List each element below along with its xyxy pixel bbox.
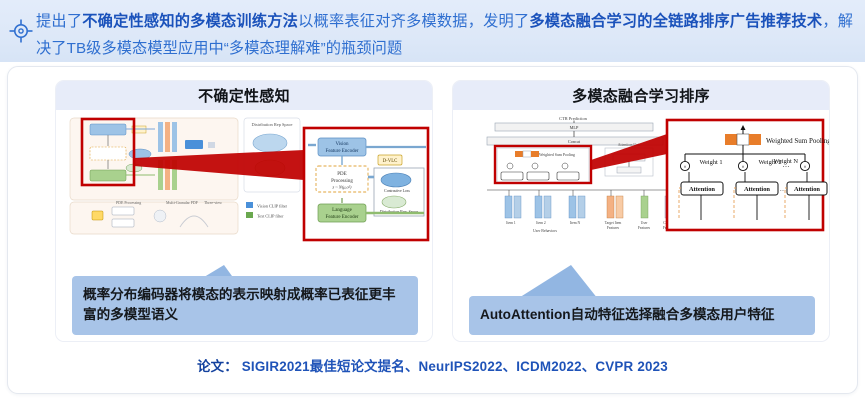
- svg-text:Feature Encoder: Feature Encoder: [326, 215, 359, 220]
- svg-text:Item 2: Item 2: [536, 221, 546, 225]
- svg-text:PDE: PDE: [337, 172, 346, 177]
- svg-text:Item 1: Item 1: [506, 221, 516, 225]
- svg-text:D-VLC: D-VLC: [383, 159, 398, 164]
- svg-text:×: ×: [803, 165, 806, 171]
- svg-text:Attention: Attention: [744, 186, 770, 193]
- svg-text:Weight 1: Weight 1: [699, 159, 722, 166]
- references-value: SIGIR2021最佳短论文提名、NeurIPS2022、ICDM2022、CV…: [242, 359, 668, 374]
- panel-title-right: 多模态融合学习排序: [453, 81, 829, 110]
- caption-autoattention: AutoAttention自动特征选择融合多模态用户特征: [469, 296, 815, 335]
- svg-text:Feature Encoder: Feature Encoder: [326, 149, 359, 154]
- target-crosshair-icon: [8, 18, 34, 44]
- svg-text:Features: Features: [638, 226, 651, 230]
- content-card: 不确定性感知: [7, 66, 858, 394]
- header-banner: 提出了不确定性感知的多模态训练方法以概率表征对齐多模数据，发明了多模态融合学习的…: [0, 0, 865, 62]
- svg-text:×: ×: [683, 165, 686, 171]
- panel-body-left: Distribution Rep Space Vision CLIP filte…: [56, 110, 432, 342]
- svg-text:…: …: [783, 161, 790, 169]
- svg-text:Multi-Granular PDF: Multi-Granular PDF: [166, 201, 199, 205]
- header-seg-3: 以概率表征对齐多模数据，发明了: [298, 13, 529, 30]
- svg-text:Weighted Sum Pooling: Weighted Sum Pooling: [539, 153, 575, 157]
- svg-text:Vision: Vision: [335, 142, 349, 147]
- svg-text:Contrastive Loss: Contrastive Loss: [384, 189, 410, 193]
- panel-fusion-ranking: 多模态融合学习排序 CTR Prediction MLP Concat: [452, 80, 830, 342]
- svg-text:Distribution Rep Space: Distribution Rep Space: [252, 122, 293, 127]
- svg-text:Text CLIP filter: Text CLIP filter: [257, 214, 284, 219]
- svg-text:Weighted Sum Pooling: Weighted Sum Pooling: [766, 137, 829, 145]
- panel-uncertainty-aware: 不确定性感知: [55, 80, 433, 342]
- svg-text:Processing: Processing: [331, 179, 353, 184]
- svg-text:Attention: Attention: [689, 186, 715, 193]
- header-seg-5-bold: 路排序广告推荐技术: [684, 13, 823, 30]
- svg-text:Concat: Concat: [568, 139, 581, 144]
- figure-ctr-architecture: CTR Prediction MLP Concat Weighted Sum P…: [453, 110, 829, 270]
- svg-text:Three-view: Three-view: [204, 201, 222, 205]
- references-label: 论文：: [197, 359, 238, 374]
- svg-text:Item N: Item N: [570, 221, 581, 225]
- slide-root: 提出了不确定性感知的多模态训练方法以概率表征对齐多模数据，发明了多模态融合学习的…: [0, 0, 865, 400]
- svg-text:Features: Features: [607, 226, 620, 230]
- svg-text:Language: Language: [332, 208, 352, 213]
- svg-text:×: ×: [741, 165, 744, 171]
- svg-text:CTR Prediction: CTR Prediction: [559, 116, 587, 121]
- header-seg-4-bold: 多模态融合学习的全链: [529, 13, 683, 30]
- svg-text:PDE Processing: PDE Processing: [116, 201, 141, 205]
- caption-uncertainty: 概率分布编码器将模态的表示映射成概率已表征更丰富的多模型语义: [72, 276, 418, 335]
- svg-text:Target Item: Target Item: [605, 221, 622, 225]
- panel-body-right: CTR Prediction MLP Concat Weighted Sum P…: [453, 110, 829, 342]
- header-statement: 提出了不确定性感知的多模态训练方法以概率表征对齐多模数据，发明了多模态融合学习的…: [36, 6, 853, 62]
- svg-text:MLP: MLP: [570, 125, 579, 130]
- panel-title-left: 不确定性感知: [56, 81, 432, 110]
- header-seg-2-bold: 不确定性感知的多模态训练方法: [82, 13, 298, 30]
- figure-uncertainty-architecture: Distribution Rep Space Vision CLIP filte…: [56, 110, 432, 270]
- svg-text:User Behaviors: User Behaviors: [533, 229, 558, 233]
- svg-text:Vision CLIP filter: Vision CLIP filter: [257, 204, 288, 209]
- header-seg-1: 提出了: [36, 13, 82, 30]
- paper-references: 论文： SIGIR2021最佳短论文提名、NeurIPS2022、ICDM202…: [0, 355, 865, 375]
- svg-text:User: User: [641, 221, 649, 225]
- svg-text:Attention: Attention: [794, 186, 820, 193]
